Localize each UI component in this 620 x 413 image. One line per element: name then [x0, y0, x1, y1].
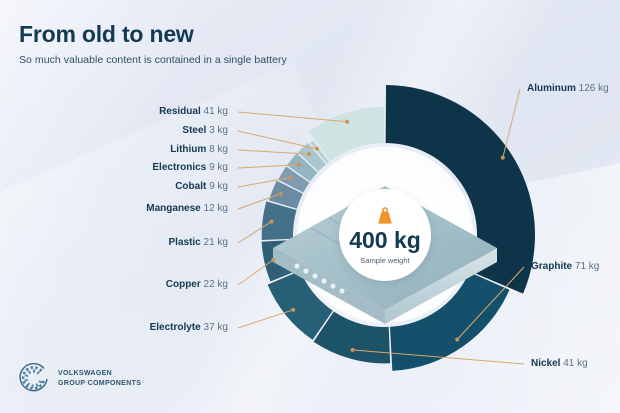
callout-graphite: Graphite 71 kg [531, 262, 599, 272]
callout-value-nickel: 41 kg [563, 358, 587, 369]
callout-residual: Residual 41 kg [20, 107, 228, 117]
callout-label-cobalt: Cobalt [175, 181, 206, 192]
leader-dot-steel [315, 147, 319, 151]
callout-label-graphite: Graphite [531, 261, 572, 272]
callout-value-residual: 41 kg [204, 106, 228, 117]
callout-label-manganese: Manganese [146, 203, 200, 214]
header-block: From old to new So much valuable content… [19, 22, 287, 66]
page-title: From old to new [19, 22, 287, 47]
brand-logo-text: VOLKSWAGEN GROUP COMPONENTS [58, 369, 141, 389]
leader-dot-nickel [351, 348, 355, 352]
callout-label-electrolyte: Electrolyte [150, 322, 201, 333]
leader-line-aluminum [503, 89, 520, 158]
callout-label-aluminum: Aluminum [527, 83, 576, 94]
callout-value-copper: 22 kg [204, 279, 228, 290]
callout-electrolyte: Electrolyte 37 kg [20, 323, 228, 333]
callout-value-steel: 3 kg [209, 125, 228, 136]
callout-label-residual: Residual [159, 106, 201, 117]
weight-icon [374, 206, 396, 225]
sample-weight-caption: Sample weight [360, 256, 409, 265]
leader-dot-manganese [279, 192, 283, 196]
callout-manganese: Manganese 12 kg [20, 204, 228, 214]
leader-line-electrolyte [238, 310, 293, 328]
callout-value-lithium: 8 kg [209, 144, 228, 155]
page-subtitle: So much valuable content is contained in… [19, 54, 287, 66]
callout-copper: Copper 22 kg [20, 280, 228, 290]
callout-label-electronics: Electronics [152, 162, 206, 173]
callout-aluminum: Aluminum 126 kg [527, 84, 609, 94]
callout-nickel: Nickel 41 kg [531, 359, 588, 369]
callout-value-cobalt: 9 kg [209, 181, 228, 192]
callout-value-graphite: 71 kg [575, 261, 599, 272]
brand-logo: VOLKSWAGEN GROUP COMPONENTS [17, 362, 141, 396]
callout-steel: Steel 3 kg [20, 126, 228, 136]
callout-value-electrolyte: 37 kg [204, 322, 228, 333]
callout-plastic: Plastic 21 kg [20, 238, 228, 248]
leader-dot-electronics [297, 163, 301, 167]
callout-label-nickel: Nickel [531, 358, 560, 369]
donut-slice-plastic [262, 201, 297, 240]
sample-weight-badge: 400 kg Sample weight [339, 189, 431, 281]
callout-label-lithium: Lithium [170, 144, 206, 155]
leader-dot-cobalt [288, 176, 292, 180]
callout-lithium: Lithium 8 kg [20, 145, 228, 155]
leader-dot-aluminum [501, 156, 505, 160]
sample-weight-value: 400 kg [349, 229, 421, 252]
callout-cobalt: Cobalt 9 kg [20, 182, 228, 192]
leader-dot-lithium [307, 152, 311, 156]
leader-dot-copper [271, 258, 275, 262]
callout-value-aluminum: 126 kg [579, 83, 609, 94]
leader-line-residual [238, 112, 347, 122]
callout-value-plastic: 21 kg [204, 237, 228, 248]
leader-dot-residual [345, 120, 349, 124]
infographic-canvas: From old to new So much valuable content… [0, 0, 620, 413]
callout-label-steel: Steel [182, 125, 206, 136]
brand-line-1: VOLKSWAGEN [58, 369, 141, 379]
leader-line-steel [238, 131, 317, 149]
callout-value-electronics: 9 kg [209, 162, 228, 173]
callout-electronics: Electronics 9 kg [20, 163, 228, 173]
volkswagen-group-components-logo-icon [17, 362, 51, 396]
callout-label-copper: Copper [166, 279, 201, 290]
leader-dot-graphite [455, 338, 459, 342]
callout-value-manganese: 12 kg [204, 203, 228, 214]
leader-dot-electrolyte [291, 308, 295, 312]
leader-dot-plastic [270, 220, 274, 224]
callout-label-plastic: Plastic [169, 237, 201, 248]
brand-line-2: GROUP COMPONENTS [58, 379, 141, 389]
